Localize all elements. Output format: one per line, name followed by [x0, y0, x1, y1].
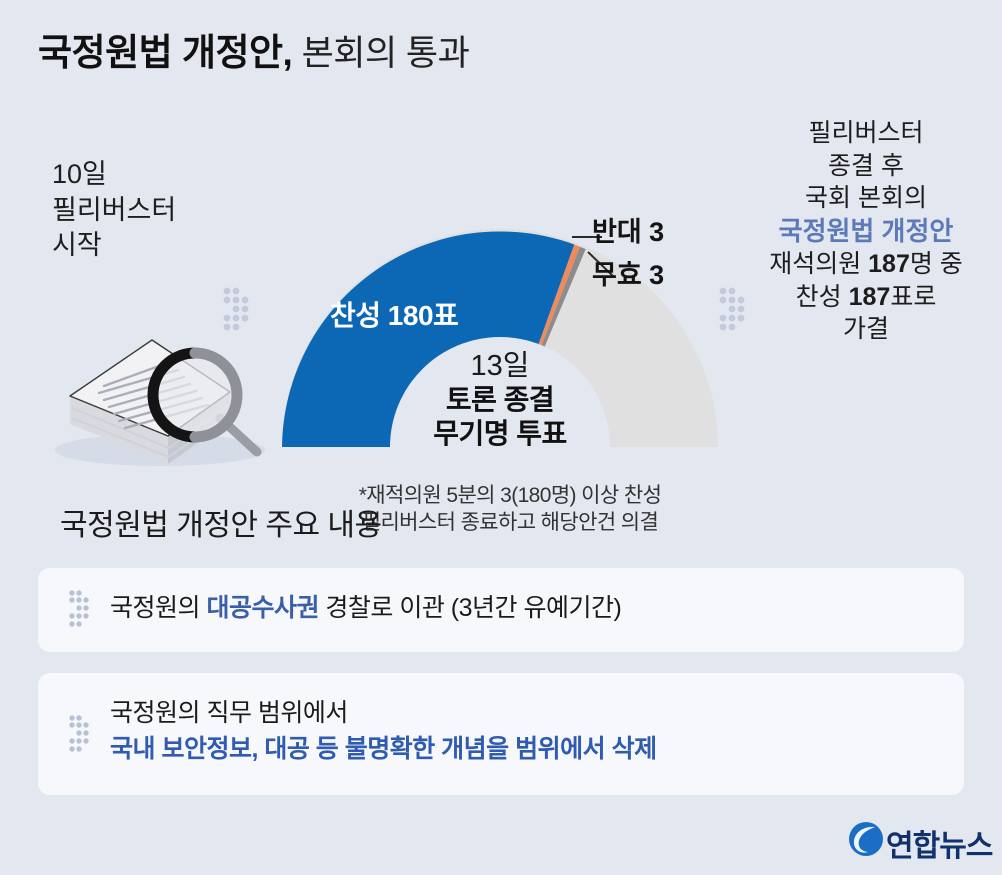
infographic-root: 국정원법 개정안, 본회의 통과 10일 필리버스터 시작	[0, 0, 1002, 875]
bill-point-card-2: 국정원의 직무 범위에서 국내 보안정보, 대공 등 불명확한 개념을 범위에서…	[38, 673, 964, 795]
passage-line2: 종결 후	[742, 150, 990, 183]
bill-point-card-1: 국정원의 대공수사권 경찰로 이관 (3년간 유예기간)	[38, 568, 964, 652]
yonhap-swirl-icon	[848, 820, 884, 858]
filibuster-start-line3: 시작	[52, 228, 232, 264]
passage-attendance: 재석의원 187명 중	[742, 248, 990, 281]
bill-point-text-highlight: 대공수사권	[206, 594, 319, 622]
dot-chevron-icon-bullet-1	[68, 588, 94, 630]
vote-type-line2: 무기명 투표	[378, 417, 622, 451]
document-stack-magnifier-illustration	[52, 300, 292, 470]
donut-center-text: 13일 토론 종결 무기명 투표	[378, 350, 622, 451]
vote-date: 13일	[378, 350, 622, 383]
page-title-strong: 국정원법 개정안,	[38, 32, 292, 73]
page-title: 국정원법 개정안, 본회의 통과	[38, 22, 469, 76]
callout-void: 무효 3	[592, 253, 664, 292]
filibuster-start-line1: 10일	[52, 157, 232, 193]
passage-attendance-post: 명 중	[910, 250, 963, 278]
yonhap-logo: 연합뉴스	[848, 820, 978, 862]
vote-type-line1: 토론 종결	[378, 383, 622, 417]
filibuster-start-block: 10일 필리버스터 시작	[52, 157, 232, 264]
passage-summary-block: 필리버스터 종결 후 국회 본회의 국정원법 개정안 재석의원 187명 중 찬…	[742, 117, 990, 346]
passage-favor-post: 표로	[890, 283, 936, 311]
section-title: 국정원법 개정안 주요 내용	[60, 500, 382, 544]
bill-point-text-a: 국정원의	[110, 594, 206, 622]
passage-result: 가결	[742, 313, 990, 346]
bill-point-line-2: 국내 보안정보, 대공 등 불명확한 개념을 범위에서 삭제	[110, 731, 940, 767]
passage-favor-pre: 찬성	[796, 283, 849, 311]
page-title-light: 본회의 통과	[292, 34, 469, 73]
passage-favor: 찬성 187표로	[742, 281, 990, 314]
filibuster-start-line2: 필리버스터	[52, 193, 232, 229]
passage-bill-name: 국정원법 개정안	[742, 215, 990, 249]
passage-line1: 필리버스터	[742, 117, 990, 150]
bill-point-card-1-body: 국정원의 대공수사권 경찰로 이관 (3년간 유예기간)	[110, 590, 940, 626]
passage-line3: 국회 본회의	[742, 182, 990, 215]
bill-point-line: 국정원의 대공수사권 경찰로 이관 (3년간 유예기간)	[110, 590, 940, 626]
bill-point-text-b: 경찰로 이관 (3년간 유예기간)	[319, 594, 621, 622]
dot-chevron-icon-bullet-2	[68, 713, 94, 755]
donut-label-favor: 찬성 180표	[330, 294, 458, 334]
passage-favor-number: 187	[849, 283, 891, 311]
bill-point-card-2-body: 국정원의 직무 범위에서 국내 보안정보, 대공 등 불명확한 개념을 범위에서…	[110, 695, 940, 768]
passage-attendance-number: 187	[868, 250, 910, 278]
callout-against: 반대 3	[592, 210, 664, 249]
passage-attendance-pre: 재석의원	[769, 250, 868, 278]
vote-summary-panel: 10일 필리버스터 시작	[0, 95, 1002, 480]
yonhap-logo-text: 연합뉴스	[886, 821, 992, 865]
bill-point-line-1: 국정원의 직무 범위에서	[110, 695, 940, 731]
